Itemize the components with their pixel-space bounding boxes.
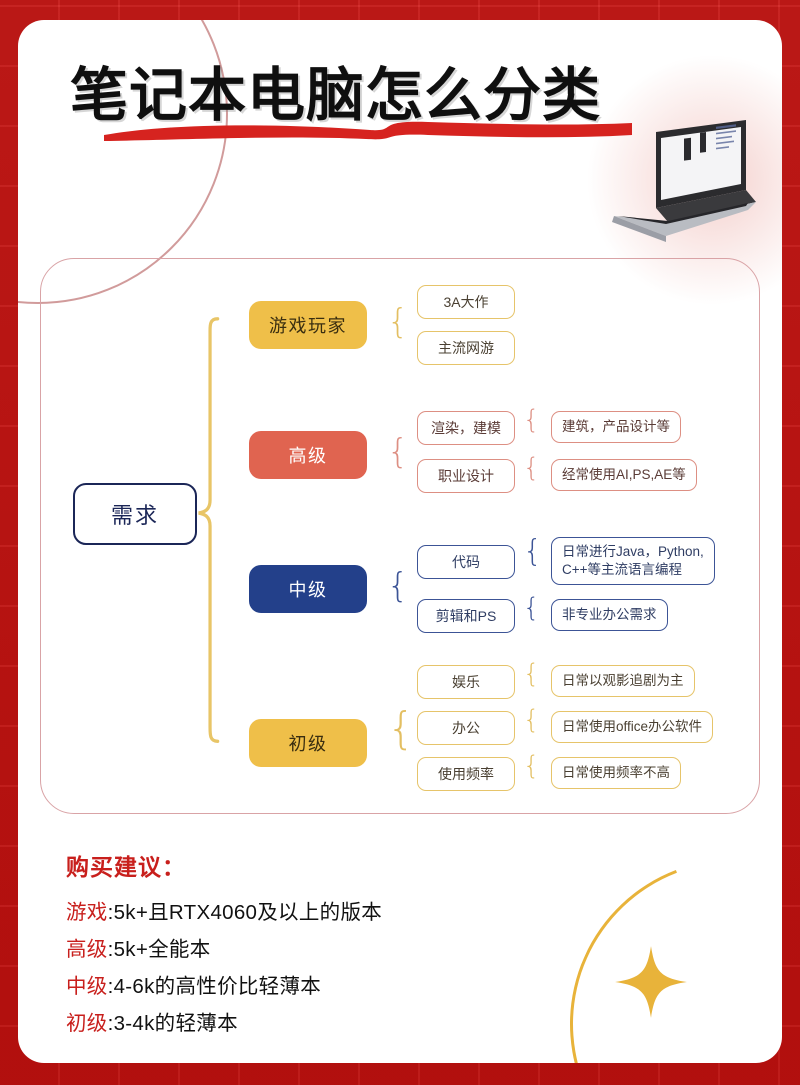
root-label: 需求 (111, 498, 159, 530)
page-title: 笔记本电脑怎么分类 (70, 56, 690, 134)
category-node-advanced[interactable]: 高级 (249, 431, 367, 479)
detail-node-label: 建筑，产品设计等 (562, 418, 670, 436)
detail-node[interactable]: 日常进行Java，Python, C++等主流语言编程 (551, 537, 715, 585)
sub-node[interactable]: 使用频率 (417, 757, 515, 791)
sub-node-label: 主流网游 (438, 338, 494, 358)
purchase-advice-section: 购买建议： 游戏:5k+且RTX4060及以上的版本 高级:5k+全能本 中级:… (66, 848, 742, 1042)
brace-detail: { (523, 753, 540, 779)
category-label: 初级 (289, 730, 328, 756)
sub-node-label: 使用频率 (438, 764, 494, 784)
detail-node[interactable]: 日常使用office办公软件 (551, 711, 713, 743)
sub-node[interactable]: 剪辑和PS (417, 599, 515, 633)
brace-intermediate: { (387, 569, 409, 603)
sub-node[interactable]: 办公 (417, 711, 515, 745)
advice-key: 初级 (66, 1012, 108, 1035)
root-node[interactable]: 需求 (73, 483, 197, 545)
sub-node[interactable]: 3A大作 (417, 285, 515, 319)
advice-value: :3-4k的轻薄本 (108, 1012, 238, 1035)
advice-key: 中级 (66, 975, 108, 998)
detail-node[interactable]: 非专业办公需求 (551, 599, 668, 631)
brace-advanced: { (387, 435, 409, 469)
sub-node-label: 娱乐 (452, 672, 480, 692)
sub-node-label: 剪辑和PS (436, 606, 497, 626)
detail-node[interactable]: 建筑，产品设计等 (551, 411, 681, 443)
category-node-gamer[interactable]: 游戏玩家 (249, 301, 367, 349)
sub-node[interactable]: 娱乐 (417, 665, 515, 699)
brace-gamer: { (387, 305, 409, 339)
sub-node-label: 渲染，建模 (431, 418, 501, 438)
category-label: 高级 (289, 442, 328, 468)
title-block: 笔记本电脑怎么分类 (70, 56, 690, 156)
content-card: 笔记本电脑怎么分类 需求 (18, 20, 782, 1063)
detail-node[interactable]: 日常使用频率不高 (551, 757, 681, 789)
mindmap: 需求 游戏玩家 { 3A大作 主流网游 高级 { 渲染，建模 { 建 (41, 259, 759, 813)
brace-detail: { (523, 595, 540, 621)
advice-value: :5k+且RTX4060及以上的版本 (108, 901, 382, 924)
category-label: 中级 (289, 576, 328, 602)
detail-node-label: 经常使用AI,PS,AE等 (562, 466, 686, 484)
advice-key: 游戏 (66, 901, 108, 924)
advice-heading: 购买建议： (66, 848, 742, 882)
detail-node[interactable]: 经常使用AI,PS,AE等 (551, 459, 697, 491)
advice-value: :4-6k的高性价比轻薄本 (108, 975, 321, 998)
detail-node-label: 日常进行Java，Python, C++等主流语言编程 (562, 543, 704, 579)
detail-node[interactable]: 日常以观影追剧为主 (551, 665, 695, 697)
sub-node[interactable]: 渲染，建模 (417, 411, 515, 445)
category-node-intermediate[interactable]: 中级 (249, 565, 367, 613)
advice-row: 游戏:5k+且RTX4060及以上的版本 (66, 894, 742, 931)
sub-node-label: 3A大作 (443, 292, 488, 312)
advice-value: :5k+全能本 (108, 938, 211, 961)
sub-node[interactable]: 职业设计 (417, 459, 515, 493)
advice-key: 高级 (66, 938, 108, 961)
advice-row: 初级:3-4k的轻薄本 (66, 1005, 742, 1042)
brace-detail: { (523, 707, 540, 733)
brace-detail: { (523, 537, 542, 567)
brace-detail: { (523, 661, 540, 687)
advice-row: 中级:4-6k的高性价比轻薄本 (66, 968, 742, 1005)
mindmap-panel: 需求 游戏玩家 { 3A大作 主流网游 高级 { 渲染，建模 { 建 (40, 258, 760, 814)
sub-node-label: 职业设计 (438, 466, 494, 486)
sub-node-label: 代码 (452, 552, 480, 572)
sub-node[interactable]: 主流网游 (417, 331, 515, 365)
detail-node-label: 日常使用频率不高 (562, 764, 670, 782)
category-label: 游戏玩家 (269, 312, 347, 338)
sub-node[interactable]: 代码 (417, 545, 515, 579)
detail-node-label: 非专业办公需求 (562, 606, 657, 624)
detail-node-label: 日常以观影追剧为主 (562, 672, 684, 690)
advice-row: 高级:5k+全能本 (66, 931, 742, 968)
category-node-beginner[interactable]: 初级 (249, 719, 367, 767)
brace-beginner: { (387, 707, 415, 751)
detail-node-label: 日常使用office办公软件 (562, 718, 702, 736)
brace-detail: { (523, 455, 540, 481)
brace-detail: { (523, 407, 540, 433)
sub-node-label: 办公 (452, 718, 480, 738)
